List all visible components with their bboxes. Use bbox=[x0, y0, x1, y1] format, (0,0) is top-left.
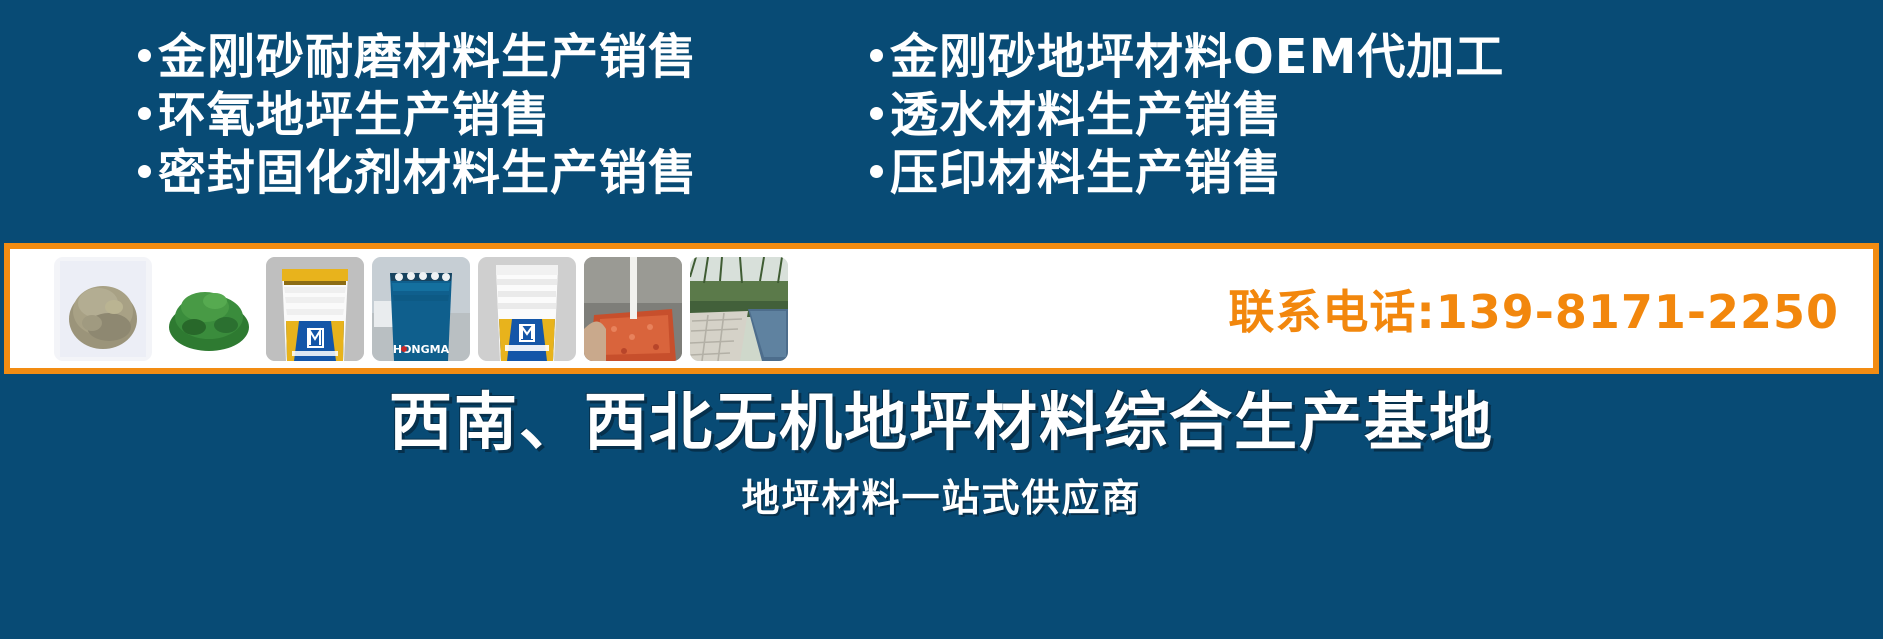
bullet-column-right: 金刚砂地坪材料OEM代加工 透水材料生产销售 压印材料生产销售 bbox=[860, 28, 1883, 233]
bullet-dot-icon bbox=[870, 165, 883, 178]
bullet-column-left: 金刚砂耐磨材料生产销售 环氧地坪生产销售 密封固化剂材料生产销售 bbox=[0, 28, 860, 233]
product-thumb-hongma-drum: HONGMA bbox=[372, 257, 470, 361]
bullet-label: 压印材料生产销售 bbox=[890, 144, 1282, 202]
bullet-dot-icon bbox=[870, 107, 883, 120]
headline-subtitle: 地坪材料一站式供应商 bbox=[0, 475, 1883, 521]
product-thumb-green-pigment-powder bbox=[160, 257, 258, 361]
contact-phone-number[interactable]: 联系电话:139-8171-2250 bbox=[1228, 276, 1839, 342]
product-thumb-sealer-bucket bbox=[266, 257, 364, 361]
bullet-label: 金刚砂耐磨材料生产销售 bbox=[158, 28, 697, 86]
bullet-item: 环氧地坪生产销售 bbox=[138, 86, 860, 144]
bullet-item: 透水材料生产销售 bbox=[870, 86, 1883, 144]
advertising-banner: 金刚砂耐磨材料生产销售 环氧地坪生产销售 密封固化剂材料生产销售 金刚砂地坪材料… bbox=[0, 0, 1883, 639]
product-thumb-permeable-pavement bbox=[584, 257, 682, 361]
bullet-item: 压印材料生产销售 bbox=[870, 144, 1883, 202]
bullet-label: 环氧地坪生产销售 bbox=[158, 86, 550, 144]
bullet-label: 透水材料生产销售 bbox=[890, 86, 1282, 144]
bullet-item: 密封固化剂材料生产销售 bbox=[138, 144, 860, 202]
bullet-dot-icon bbox=[870, 49, 883, 62]
service-bullet-lists: 金刚砂耐磨材料生产销售 环氧地坪生产销售 密封固化剂材料生产销售 金刚砂地坪材料… bbox=[0, 28, 1883, 233]
headline-title: 西南、西北无机地坪材料综合生产基地 bbox=[0, 385, 1883, 461]
bullet-dot-icon bbox=[138, 49, 151, 62]
bullet-item: 金刚砂耐磨材料生产销售 bbox=[138, 28, 860, 86]
headline-block: 西南、西北无机地坪材料综合生产基地 地坪材料一站式供应商 bbox=[0, 385, 1883, 521]
product-thumb-epoxy-paint-bucket bbox=[478, 257, 576, 361]
product-thumb-stamped-walkway bbox=[690, 257, 788, 361]
bullet-label: 密封固化剂材料生产销售 bbox=[158, 144, 697, 202]
bullet-dot-icon bbox=[138, 107, 151, 120]
product-showcase-strip: HONGMA bbox=[4, 243, 1879, 374]
product-thumbnail-list: HONGMA bbox=[10, 249, 788, 368]
product-thumb-gray-abrasive-powder bbox=[54, 257, 152, 361]
bullet-item: 金刚砂地坪材料OEM代加工 bbox=[870, 28, 1883, 86]
bullet-dot-icon bbox=[138, 165, 151, 178]
bullet-label: 金刚砂地坪材料OEM代加工 bbox=[890, 28, 1504, 86]
